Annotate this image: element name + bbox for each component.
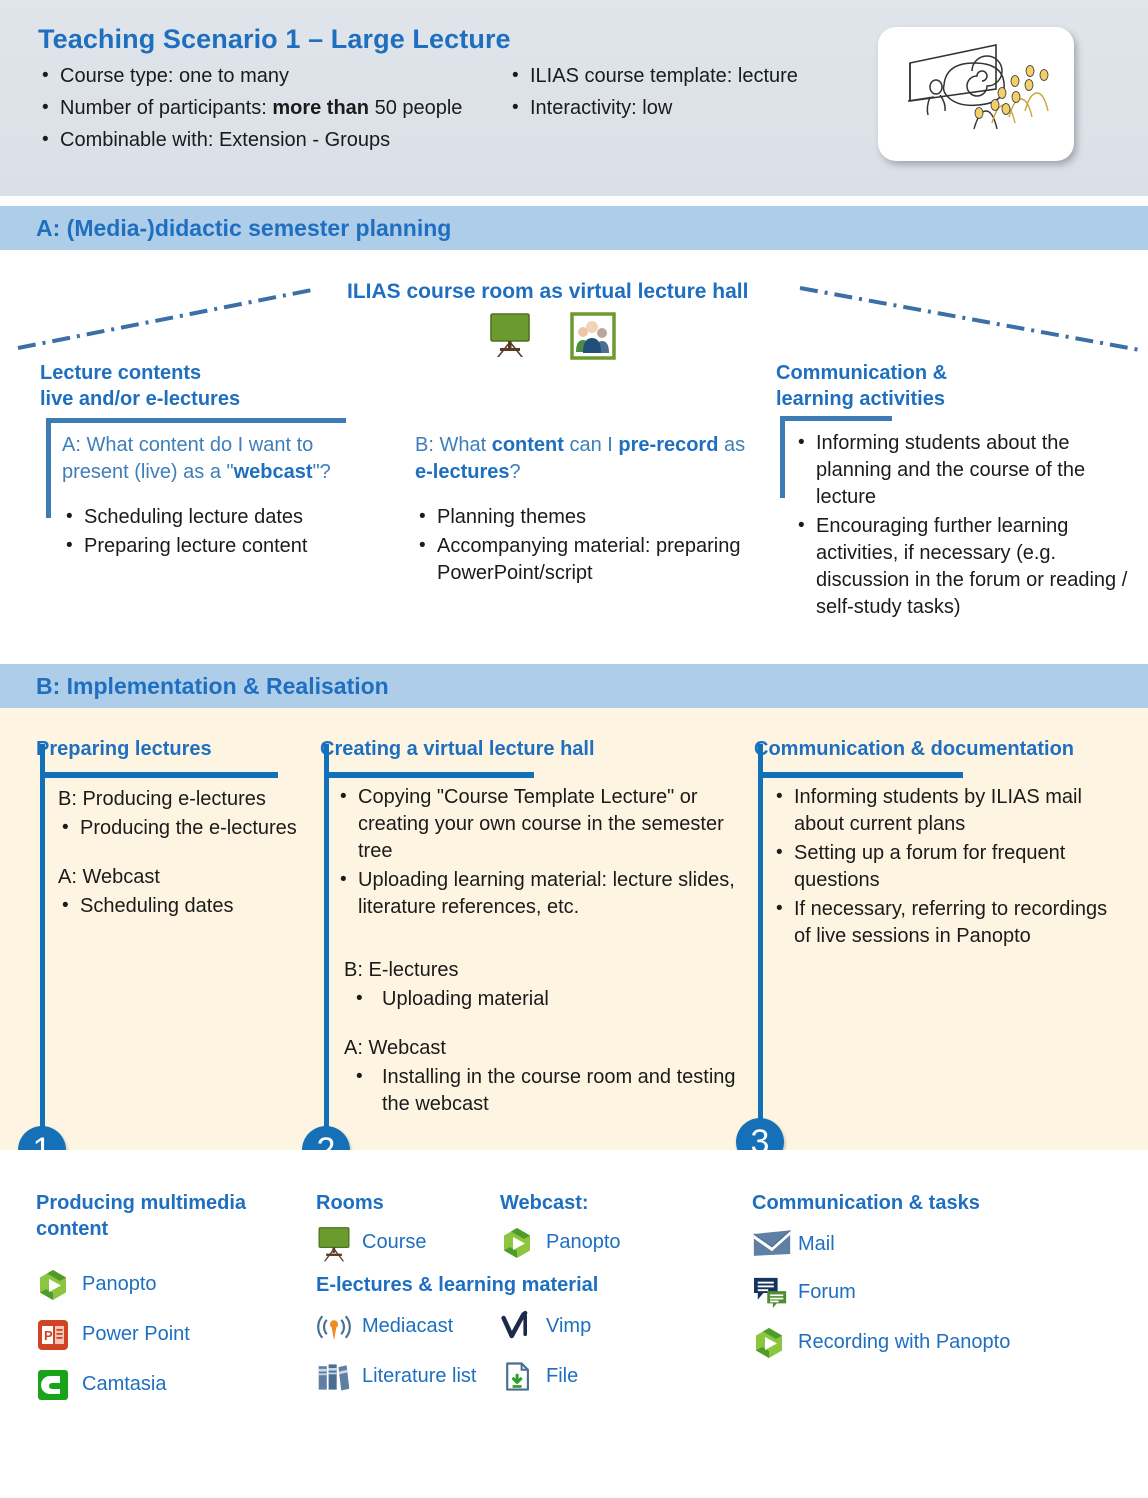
q-p3: as [718,434,745,456]
column-heading: Communication & learning activities [776,360,947,412]
mail-icon [752,1228,798,1260]
section-a-label: A: (Media-)didactic semester planning [36,215,451,242]
tool-label: Literature list [362,1360,477,1389]
tools-column-3: Communication & tasks Mail [752,1190,1082,1376]
column-body: Informing students by ILIAS mail about c… [772,784,1127,952]
mediacast-icon [316,1310,362,1344]
column-heading: Preparing lectures [36,736,212,762]
column-body: Informing students about the planning an… [794,430,1134,623]
section-a-band: A: (Media-)didactic semester planning [0,206,1148,250]
section-a-column-2: B: What content can I pre-record as e-le… [415,432,760,589]
tool-item-file[interactable]: File [500,1360,690,1394]
column-bullets: Informing students about the planning an… [794,430,1134,621]
q-b1: content [492,434,564,456]
list-item: Uploading material [352,986,746,1013]
q-b3: e-lectures [415,461,510,483]
list-item: Setting up a forum for frequent question… [772,840,1127,894]
header-right-list: ILIAS course template: lecture Interacti… [508,63,878,122]
heading-line-2: live and/or e-lectures [40,388,240,410]
label-a-webcast: A: Webcast [58,864,314,891]
q-b2: pre-record [618,434,718,456]
tools-column-2-webcast: Webcast: Panopto [500,1190,690,1276]
tool-item-mediacast[interactable]: Mediacast [316,1310,506,1344]
bracket-decoration [758,772,963,773]
bullets-b: Uploading material [352,986,746,1013]
tool-label: File [546,1360,578,1389]
label-b-electures: B: E-lectures [344,957,746,984]
bullets-top: Copying "Course Template Lecture" or cre… [336,784,746,921]
heading-line-1: Communication & [776,362,947,384]
list-item: Course type: one to many [38,63,498,90]
tool-label: Vimp [546,1310,591,1339]
header-left-column: Course type: one to many Number of parti… [38,63,498,159]
q-p1: B: What [415,434,492,456]
question-text: B: What content can I pre-record as e-le… [415,432,760,486]
section-b-label: B: Implementation & Realisation [36,673,389,700]
list-item: Scheduling lecture dates [62,504,372,531]
bullets-a: Scheduling dates [58,893,314,920]
question-text: A: What content do I want to present (li… [62,432,372,486]
tool-item-literature-list[interactable]: Literature list [316,1360,506,1394]
heading-line-2: learning activities [776,388,945,410]
list-item: Uploading learning material: lecture sli… [336,867,746,921]
tools-heading-webcast: Webcast: [500,1190,690,1216]
tool-item-vimp[interactable]: Vimp [500,1310,690,1344]
item-text: Course type: one to many [60,65,289,87]
column-body: A: What content do I want to present (li… [62,432,372,562]
infographic-page: Teaching Scenario 1 – Large Lecture Cour… [0,0,1148,1498]
column-heading: Communication & documentation [754,736,1074,762]
tool-label: Mediacast [362,1310,453,1339]
panopto-icon [500,1226,546,1260]
tools-column-1: Producing multimedia content Panopto [36,1190,286,1418]
bullets-a: Installing in the course room and testin… [352,1064,746,1118]
item-text: ILIAS course template: lecture [530,65,798,87]
tools-electures-right: Vimp File [500,1310,690,1410]
tools-column-2-rooms: Rooms Course [316,1190,496,1280]
tools-section: Producing multimedia content Panopto [0,1150,1148,1498]
list-item: Preparing lecture content [62,533,372,560]
tools-heading: Producing multimedia content [36,1190,286,1242]
bullets-b: Producing the e-lectures [58,815,314,842]
list-item: If necessary, referring to recordings of… [772,896,1127,950]
group-of-people-icon [570,312,616,360]
column-bullets: Scheduling lecture dates Preparing lectu… [62,504,372,560]
q-p2: can I [564,434,618,456]
item-bold: more than [272,97,369,119]
board-icon [316,1226,362,1264]
bracket-decoration [324,772,534,773]
list-item: Combinable with: Extension - Groups [38,127,498,154]
connector-line-3 [758,744,763,1124]
tool-label: Forum [798,1276,856,1305]
list-item: Informing students by ILIAS mail about c… [772,784,1127,838]
tools-heading-electures-wrap: E-lectures & learning material [316,1272,736,1298]
svg-text:P: P [44,1328,53,1343]
file-icon [500,1360,546,1394]
forum-icon [752,1276,798,1310]
tool-item-camtasia[interactable]: Camtasia [36,1368,286,1402]
section-b-band: B: Implementation & Realisation [0,664,1148,708]
page-title: Teaching Scenario 1 – Large Lecture [38,24,511,55]
lecture-hall-illustration-svg [878,27,1074,161]
heading-line-1: Lecture contents [40,362,201,384]
bracket-decoration [40,772,278,773]
powerpoint-icon: P [36,1318,82,1352]
item-text: Combinable with: Extension - Groups [60,129,390,151]
spacer [336,1015,746,1035]
question-post: "? [313,461,331,483]
tool-label: Panopto [546,1226,621,1255]
label-a-webcast: A: Webcast [344,1035,746,1062]
item-post: 50 people [369,97,462,119]
tool-item-powerpoint[interactable]: P Power Point [36,1318,286,1352]
literature-list-icon [316,1360,362,1394]
column-bullets: Informing students by ILIAS mail about c… [772,784,1127,950]
tool-label: Camtasia [82,1368,166,1397]
tool-label: Mail [798,1228,835,1257]
tools-heading-electures: E-lectures & learning material [316,1272,736,1298]
panopto-icon [36,1268,82,1302]
section-a-body: ILIAS course room as virtual lecture hal… [0,250,1148,664]
list-item: Planning themes [415,504,760,531]
tool-label: Course [362,1226,426,1255]
tools-electures-left: Mediacast Literature list [316,1310,506,1410]
panopto-icon [752,1326,798,1360]
list-item: Copying "Course Template Lecture" or cre… [336,784,746,865]
tools-heading-rooms: Rooms [316,1190,496,1216]
list-item: Interactivity: low [508,95,878,122]
connector-line-2 [324,744,329,1144]
spacer [58,844,314,864]
section-b-body: Preparing lectures B: Producing e-lectur… [0,708,1148,1150]
header-left-list: Course type: one to many Number of parti… [38,63,498,154]
connector-line-1 [40,744,45,1144]
q-p4: ? [510,461,521,483]
tool-item-panopto-webcast[interactable]: Panopto [500,1226,690,1260]
vimp-icon [500,1310,546,1344]
question-bold: webcast [234,461,313,483]
column-bullets: Planning themes Accompanying material: p… [415,504,760,587]
label-b-producing: B: Producing e-lectures [58,786,314,813]
list-item: Number of participants: more than 50 peo… [38,95,498,122]
list-item: Informing students about the planning an… [794,430,1134,511]
tool-item-mail[interactable]: Mail [752,1228,1082,1260]
ilias-course-room-title: ILIAS course room as virtual lecture hal… [347,280,767,304]
tools-heading: Communication & tasks [752,1190,1082,1216]
tool-label: Panopto [82,1268,157,1297]
item-text: Number of participants: [60,97,272,119]
tool-item-course[interactable]: Course [316,1226,496,1264]
column-heading: Lecture contents live and/or e-lectures [40,360,240,412]
list-item: Encouraging further learning activities,… [794,513,1134,621]
board-icon [487,312,533,360]
header-panel: Teaching Scenario 1 – Large Lecture Cour… [0,0,1148,196]
list-item: Accompanying material: preparing PowerPo… [415,533,760,587]
item-text: Interactivity: low [530,97,672,119]
ilias-icons-row [487,312,616,360]
tool-item-recording-panopto[interactable]: Recording with Panopto [752,1326,1082,1360]
tool-label: Recording with Panopto [798,1326,1010,1355]
column-body: Copying "Course Template Lecture" or cre… [336,784,746,1120]
tool-label: Power Point [82,1318,190,1347]
list-item: Scheduling dates [58,893,314,920]
tool-item-forum[interactable]: Forum [752,1276,1082,1310]
camtasia-icon [36,1368,82,1402]
header-right-column: ILIAS course template: lecture Interacti… [508,63,878,127]
list-item: Producing the e-lectures [58,815,314,842]
tool-item-panopto[interactable]: Panopto [36,1268,286,1302]
spacer [336,923,746,957]
list-item: ILIAS course template: lecture [508,63,878,90]
lecture-hall-illustration [878,27,1074,161]
column-body: B: Producing e-lectures Producing the e-… [58,786,314,922]
column-heading: Creating a virtual lecture hall [320,736,595,762]
list-item: Installing in the course room and testin… [352,1064,746,1118]
